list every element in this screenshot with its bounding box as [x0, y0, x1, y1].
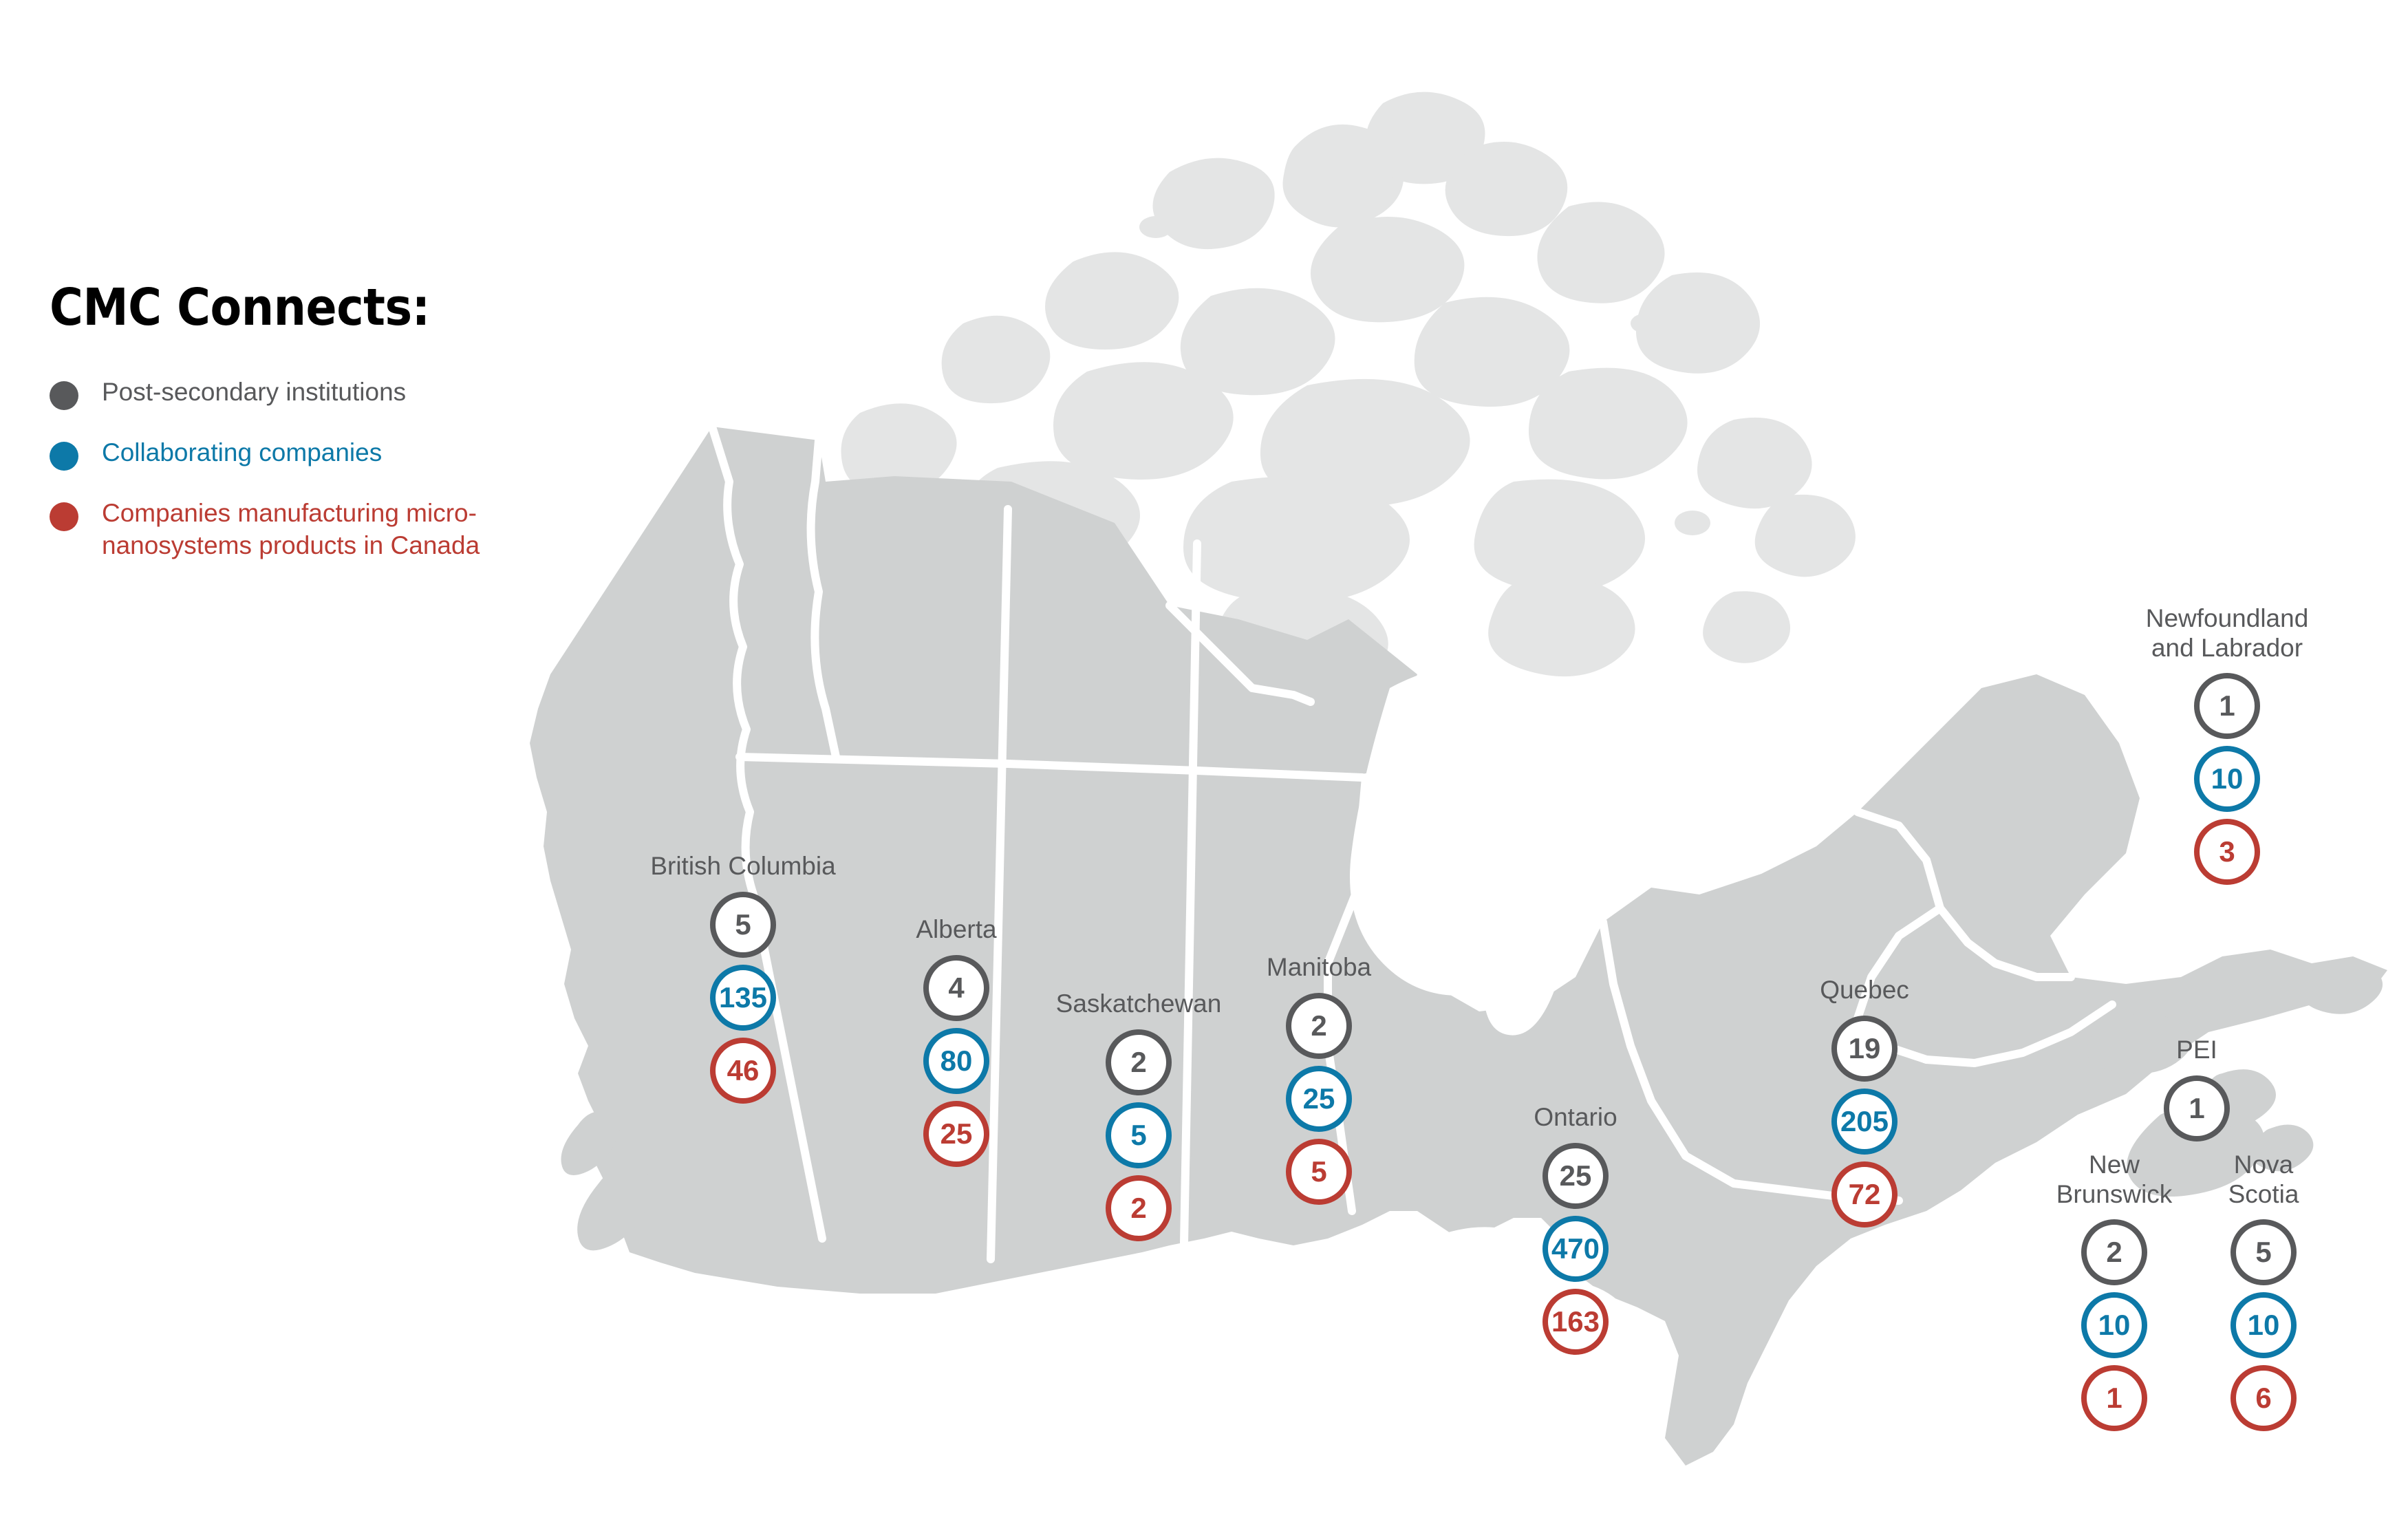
- bubble-manufacturing[interactable]: 3: [2194, 819, 2260, 885]
- blue-dot-icon: [50, 442, 78, 471]
- infographic-canvas: CMC Connects: Post-secondary institution…: [0, 0, 2408, 1522]
- bubble-post-secondary[interactable]: 1: [2194, 673, 2260, 739]
- legend-label-manufacturing: Companies manufacturing micro-nanosystem…: [102, 497, 501, 562]
- bubble-collaborating[interactable]: 80: [923, 1028, 989, 1094]
- gray-dot-icon: [50, 381, 78, 410]
- bubble-stack-new-brunswick: 2 10 1: [2081, 1219, 2147, 1438]
- bubble-collaborating[interactable]: 135: [710, 965, 776, 1031]
- bubble-stack-nova-scotia: 5 10 6: [2230, 1219, 2297, 1438]
- province-label-ontario: Ontario: [1534, 1103, 1617, 1133]
- bubble-stack-pei: 1: [2164, 1075, 2230, 1148]
- province-label-pei: PEI: [2176, 1036, 2217, 1065]
- legend-label-collaborating: Collaborating companies: [102, 436, 382, 469]
- bubble-post-secondary[interactable]: 2: [2081, 1219, 2147, 1285]
- bubble-manufacturing[interactable]: 2: [1106, 1175, 1172, 1241]
- bubble-manufacturing[interactable]: 72: [1831, 1161, 1898, 1228]
- province-label-new-brunswick: New Brunswick: [2056, 1150, 2173, 1209]
- bubble-manufacturing[interactable]: 25: [923, 1101, 989, 1167]
- page-title: CMC Connects:: [50, 282, 572, 333]
- bubble-stack-ontario: 25 470 163: [1542, 1143, 1609, 1362]
- legend-items: Post-secondary institutions Collaboratin…: [50, 376, 572, 562]
- bubble-post-secondary[interactable]: 4: [923, 955, 989, 1021]
- bubble-stack-quebec: 19 205 72: [1831, 1016, 1898, 1234]
- bubble-collaborating[interactable]: 470: [1542, 1216, 1609, 1282]
- province-label-newfoundland-and-labrador: Newfoundland and Labrador: [2146, 604, 2309, 663]
- bubble-collaborating[interactable]: 10: [2230, 1292, 2297, 1358]
- canada-map: [0, 0, 2408, 1522]
- bubble-post-secondary[interactable]: 1: [2164, 1075, 2230, 1141]
- bubble-manufacturing[interactable]: 6: [2230, 1365, 2297, 1431]
- legend-panel: CMC Connects: Post-secondary institution…: [50, 282, 572, 588]
- province-label-saskatchewan: Saskatchewan: [1056, 989, 1222, 1019]
- bubble-post-secondary[interactable]: 2: [1106, 1029, 1172, 1095]
- bubble-post-secondary[interactable]: 5: [710, 892, 776, 958]
- bubble-stack-alberta: 4 80 25: [923, 955, 989, 1174]
- province-label-alberta: Alberta: [916, 915, 996, 945]
- legend-item-collaborating: Collaborating companies: [50, 436, 572, 471]
- legend-item-post-secondary: Post-secondary institutions: [50, 376, 572, 410]
- legend-item-manufacturing: Companies manufacturing micro-nanosystem…: [50, 497, 572, 562]
- bubble-manufacturing[interactable]: 5: [1286, 1139, 1352, 1205]
- bubble-stack-manitoba: 2 25 5: [1286, 993, 1352, 1212]
- bubble-collaborating[interactable]: 10: [2081, 1292, 2147, 1358]
- province-label-quebec: Quebec: [1820, 976, 1909, 1005]
- red-dot-icon: [50, 502, 78, 531]
- bubble-post-secondary[interactable]: 25: [1542, 1143, 1609, 1209]
- legend-label-post-secondary: Post-secondary institutions: [102, 376, 406, 408]
- bubble-stack-newfoundland-and-labrador: 1 10 3: [2194, 673, 2260, 892]
- bubble-post-secondary[interactable]: 19: [1831, 1016, 1898, 1082]
- province-label-manitoba: Manitoba: [1267, 953, 1371, 983]
- bubble-collaborating[interactable]: 25: [1286, 1066, 1352, 1132]
- province-label-british-columbia: British Columbia: [650, 852, 835, 881]
- bubble-collaborating[interactable]: 5: [1106, 1102, 1172, 1168]
- bubble-post-secondary[interactable]: 2: [1286, 993, 1352, 1059]
- bubble-stack-saskatchewan: 2 5 2: [1106, 1029, 1172, 1248]
- bubble-manufacturing[interactable]: 163: [1542, 1289, 1609, 1355]
- bubble-collaborating[interactable]: 10: [2194, 746, 2260, 812]
- bubble-collaborating[interactable]: 205: [1831, 1089, 1898, 1155]
- bubble-manufacturing[interactable]: 46: [710, 1038, 776, 1104]
- bubble-post-secondary[interactable]: 5: [2230, 1219, 2297, 1285]
- bubble-manufacturing[interactable]: 1: [2081, 1365, 2147, 1431]
- bubble-stack-british-columbia: 5 135 46: [710, 892, 776, 1111]
- province-label-nova-scotia: Nova Scotia: [2228, 1150, 2299, 1209]
